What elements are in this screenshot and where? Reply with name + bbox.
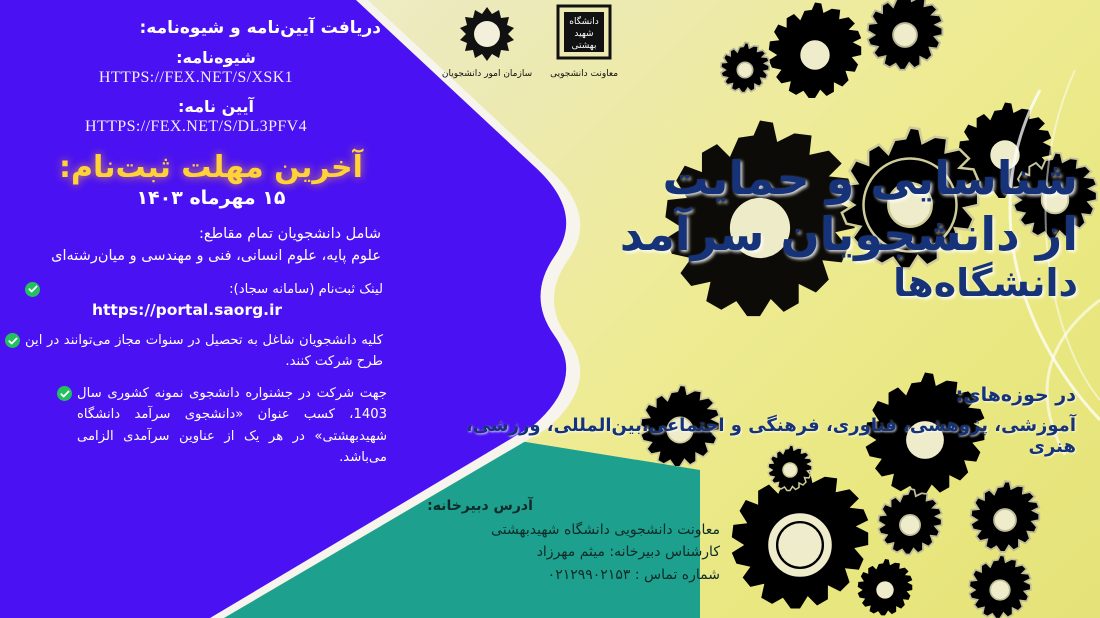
logo-student-affairs-organization: سازمان امور دانشجویان: [442, 4, 532, 79]
registration-portal-url[interactable]: https://portal.saorg.ir: [5, 301, 369, 319]
includes-line-1: شامل دانشجویان تمام مقاطع:: [5, 223, 381, 245]
deadline-date: ۱۵ مهرماه ۱۴۰۳: [5, 187, 387, 209]
download-heading: دریافت آیین‌نامه و شیوه‌نامه:: [5, 18, 381, 38]
method-label: شیوه‌نامه:: [5, 48, 381, 67]
secretariat-block: آدرس دبیرخانه: معاونت دانشجویی دانشگاه ش…: [300, 495, 720, 587]
check-circle-icon: [25, 282, 40, 297]
deadline-title: آخرین مهلت ثبت‌نام:: [5, 150, 387, 185]
fields-list: آموزشی، پژوهشی، فناوری، فرهنگی و اجتماعی…: [446, 415, 1076, 457]
poster-canvas: دانشگاه شهید بهشتی معاونت دانشجویی سازما…: [0, 0, 1100, 618]
svg-text:شهید: شهید: [575, 29, 594, 39]
logo-caption-organization: سازمان امور دانشجویان: [442, 69, 532, 79]
organization-emblem-icon: [458, 4, 516, 66]
bullet-registration-text: لینک ثبت‌نام (سامانه سجاد):: [45, 279, 383, 300]
title-line-3: دانشگاه‌ها: [518, 260, 1078, 306]
title-line-2: از دانشجویان سرآمد: [620, 207, 1078, 261]
bullet-festival-requirement: جهت شرکت در جشنواره دانشجوی نمونه کشوری …: [57, 383, 387, 468]
secretariat-line-1: معاونت دانشجویی دانشگاه شهیدبهشتی: [300, 519, 720, 542]
regulation-label: آیین نامه:: [5, 97, 381, 116]
fields-heading: در حوزه‌های:: [956, 384, 1076, 406]
logo-shahid-beheshti-university: دانشگاه شهید بهشتی معاونت دانشجویی: [550, 4, 618, 79]
check-circle-icon: [5, 333, 20, 348]
secretariat-heading: آدرس دبیرخانه:: [300, 495, 720, 518]
regulation-url-link[interactable]: HTTPS://FEX.NET/S/DL3PFV4: [5, 118, 387, 136]
method-url-link[interactable]: HTTPS://FEX.NET/S/XSK1: [5, 69, 387, 87]
logo-row: دانشگاه شهید بهشتی معاونت دانشجویی سازما…: [415, 4, 645, 114]
svg-text:دانشگاه: دانشگاه: [569, 15, 598, 27]
secretariat-phone: شماره تماس : ۰۲۱۲۹۹۰۲۱۵۳: [300, 564, 720, 587]
bullet-registration-link: لینک ثبت‌نام (سامانه سجاد):: [5, 279, 383, 300]
check-circle-icon: [57, 386, 72, 401]
bullet-eligibility: کلیه دانشجویان شاغل به تحصیل در سنوات مج…: [5, 330, 383, 372]
bullet-eligibility-text: کلیه دانشجویان شاغل به تحصیل در سنوات مج…: [25, 330, 383, 372]
bullet-festival-text: جهت شرکت در جشنواره دانشجوی نمونه کشوری …: [77, 383, 387, 468]
university-emblem-icon: دانشگاه شهید بهشتی: [556, 4, 612, 66]
title-line-1: شناسایی و حمایت: [663, 151, 1078, 205]
logo-caption-university: معاونت دانشجویی: [550, 69, 618, 79]
secretariat-line-2: کارشناس دبیرخانه: میثم مهرزاد: [300, 541, 720, 564]
svg-text:بهشتی: بهشتی: [572, 41, 597, 51]
poster-main-title: شناسایی و حمایت از دانشجویان سرآمد دانشگ…: [518, 150, 1078, 307]
includes-line-2: علوم پایه، علوم انسانی، فنی و مهندسی و م…: [5, 245, 381, 267]
